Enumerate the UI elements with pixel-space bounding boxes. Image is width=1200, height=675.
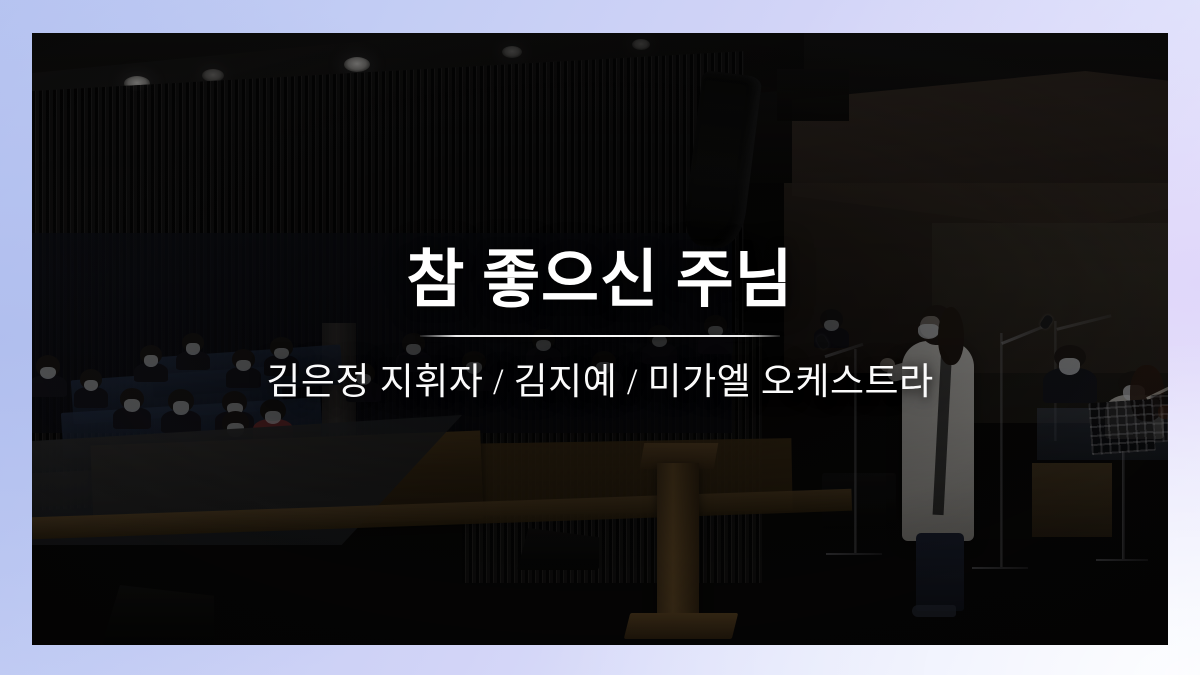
music-stand <box>1088 399 1155 455</box>
microphone-stand <box>854 349 857 553</box>
background-photo <box>32 33 1168 645</box>
congregation-member <box>532 329 555 362</box>
ceiling-downlight <box>502 46 522 58</box>
wooden-cabinet <box>1032 463 1112 537</box>
congregation-member <box>270 337 293 370</box>
congregation-member <box>592 351 616 385</box>
congregation-member <box>704 315 727 348</box>
face-mask <box>918 324 939 339</box>
music-stand <box>1150 391 1168 443</box>
congregation-member <box>462 351 486 385</box>
ceiling-downlight <box>344 57 370 72</box>
face-mask <box>596 362 611 374</box>
mic-stand-base <box>826 553 882 555</box>
face-mask <box>144 355 158 367</box>
music-stand-pole <box>1122 451 1125 559</box>
microphone-stand <box>1000 333 1003 567</box>
face-mask <box>466 362 481 374</box>
conductor-shoe <box>912 605 956 617</box>
conductor-legs <box>916 533 964 611</box>
slide-frame: 참 좋으신 주님 김은정 지휘자 / 김지예 / 미가엘 오케스트라 <box>0 0 1200 675</box>
face-mask <box>1059 358 1080 375</box>
face-mask <box>173 401 190 415</box>
pulpit-base <box>624 613 738 639</box>
congregation-member <box>352 363 375 396</box>
congregation-member <box>120 388 144 423</box>
congregation-member <box>402 333 425 366</box>
congregation-member <box>36 355 60 391</box>
congregation-member <box>140 345 162 377</box>
music-stand-base <box>1096 559 1148 561</box>
face-mask <box>124 399 139 412</box>
ceiling-downlight <box>632 39 650 50</box>
congregation-member <box>182 333 204 365</box>
floor-monitor-speaker <box>102 585 214 645</box>
pulpit-column <box>657 463 699 623</box>
face-mask <box>186 343 200 355</box>
orchestra-member <box>1054 345 1086 389</box>
mic-stand-base <box>972 567 1028 569</box>
conductor-hand <box>880 358 895 372</box>
congregation-member <box>80 369 102 402</box>
congregation-member <box>168 389 194 427</box>
conductor-hair <box>938 307 964 365</box>
congregation-member <box>232 349 255 382</box>
congregation-member <box>648 325 671 358</box>
wall-speaker-box <box>777 69 849 121</box>
